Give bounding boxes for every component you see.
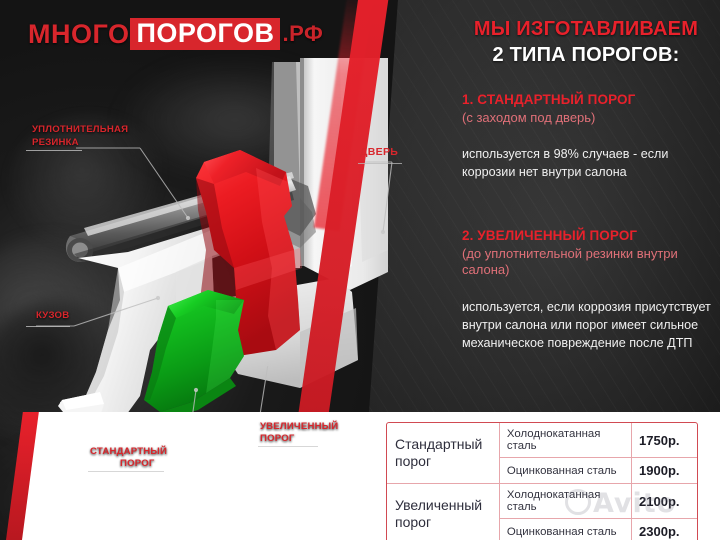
label-enlarged-line2: ПОРОГ xyxy=(260,433,295,445)
price-value-cell: 2300р. xyxy=(632,519,697,540)
price-steel-cell: Оцинкованная сталь xyxy=(499,519,631,540)
table-row: Увеличенный порог Холоднокатанная сталь … xyxy=(387,484,697,519)
section-1-block: 1. СТАНДАРТНЫЙ ПОРОГ (с заходом под двер… xyxy=(462,92,714,126)
site-logo[interactable]: МНОГО ПОРОГОВ .РФ xyxy=(28,18,323,50)
section-2-body: используется, если коррозия присутствует… xyxy=(462,299,714,353)
poster-root: МНОГО ПОРОГОВ .РФ МЫ ИЗГОТАВЛИВАЕМ 2 ТИП… xyxy=(0,0,720,540)
label-standard-underline xyxy=(88,471,164,472)
table-row: Стандартный порог Холоднокатанная сталь … xyxy=(387,423,697,458)
price-value-cell: 2100р. xyxy=(632,484,697,519)
label-body-panel: КУЗОВ xyxy=(36,310,69,322)
price-type-standard: Стандартный порог xyxy=(387,423,499,484)
price-steel-cell: Холоднокатанная сталь xyxy=(499,484,631,519)
headline-line-2: 2 ТИПА ПОРОГОВ: xyxy=(460,44,712,67)
price-table-body: Стандартный порог Холоднокатанная сталь … xyxy=(387,423,697,540)
headline-block: МЫ ИЗГОТАВЛИВАЕМ 2 ТИПА ПОРОГОВ: xyxy=(460,18,712,67)
price-table: Стандартный порог Холоднокатанная сталь … xyxy=(386,422,698,540)
label-enlarged-underline xyxy=(258,446,318,447)
section-2-subtitle: (до уплотнительной резинки внутри салона… xyxy=(462,246,714,279)
section-1-title: 1. СТАНДАРТНЫЙ ПОРОГ xyxy=(462,92,714,108)
label-seal-line1: УПЛОТНИТЕЛЬНАЯ xyxy=(32,124,128,136)
label-standard-line1: СТАНДАРТНЫЙ xyxy=(90,446,167,458)
label-body-underline xyxy=(26,326,70,327)
headline-line-1: МЫ ИЗГОТАВЛИВАЕМ xyxy=(460,18,712,41)
section-1-subtitle: (с заходом под дверь) xyxy=(462,110,714,126)
price-steel-cell: Холоднокатанная сталь xyxy=(499,423,631,458)
price-value-cell: 1900р. xyxy=(632,458,697,484)
price-steel-cell: Оцинкованная сталь xyxy=(499,458,631,484)
label-door-underline xyxy=(358,163,402,164)
label-seal-underline xyxy=(26,150,82,151)
logo-part-domain: .РФ xyxy=(282,23,323,45)
section-1-body: используется в 98% случаев - если корроз… xyxy=(462,146,714,182)
label-enlarged-line1: УВЕЛИЧЕННЫЙ xyxy=(260,421,338,433)
section-2-title: 2. УВЕЛИЧЕННЫЙ ПОРОГ xyxy=(462,228,714,244)
label-standard-line2: ПОРОГ xyxy=(120,458,155,470)
price-type-enlarged: Увеличенный порог xyxy=(387,484,499,540)
logo-part-mnogo: МНОГО xyxy=(28,21,129,48)
price-value-cell: 1750р. xyxy=(632,423,697,458)
label-door: ДВЕРЬ xyxy=(360,146,398,158)
label-seal-line2: РЕЗИНКА xyxy=(32,137,79,149)
section-2-block: 2. УВЕЛИЧЕННЫЙ ПОРОГ (до уплотнительной … xyxy=(462,228,714,279)
logo-part-porogov: ПОРОГОВ xyxy=(130,18,280,50)
